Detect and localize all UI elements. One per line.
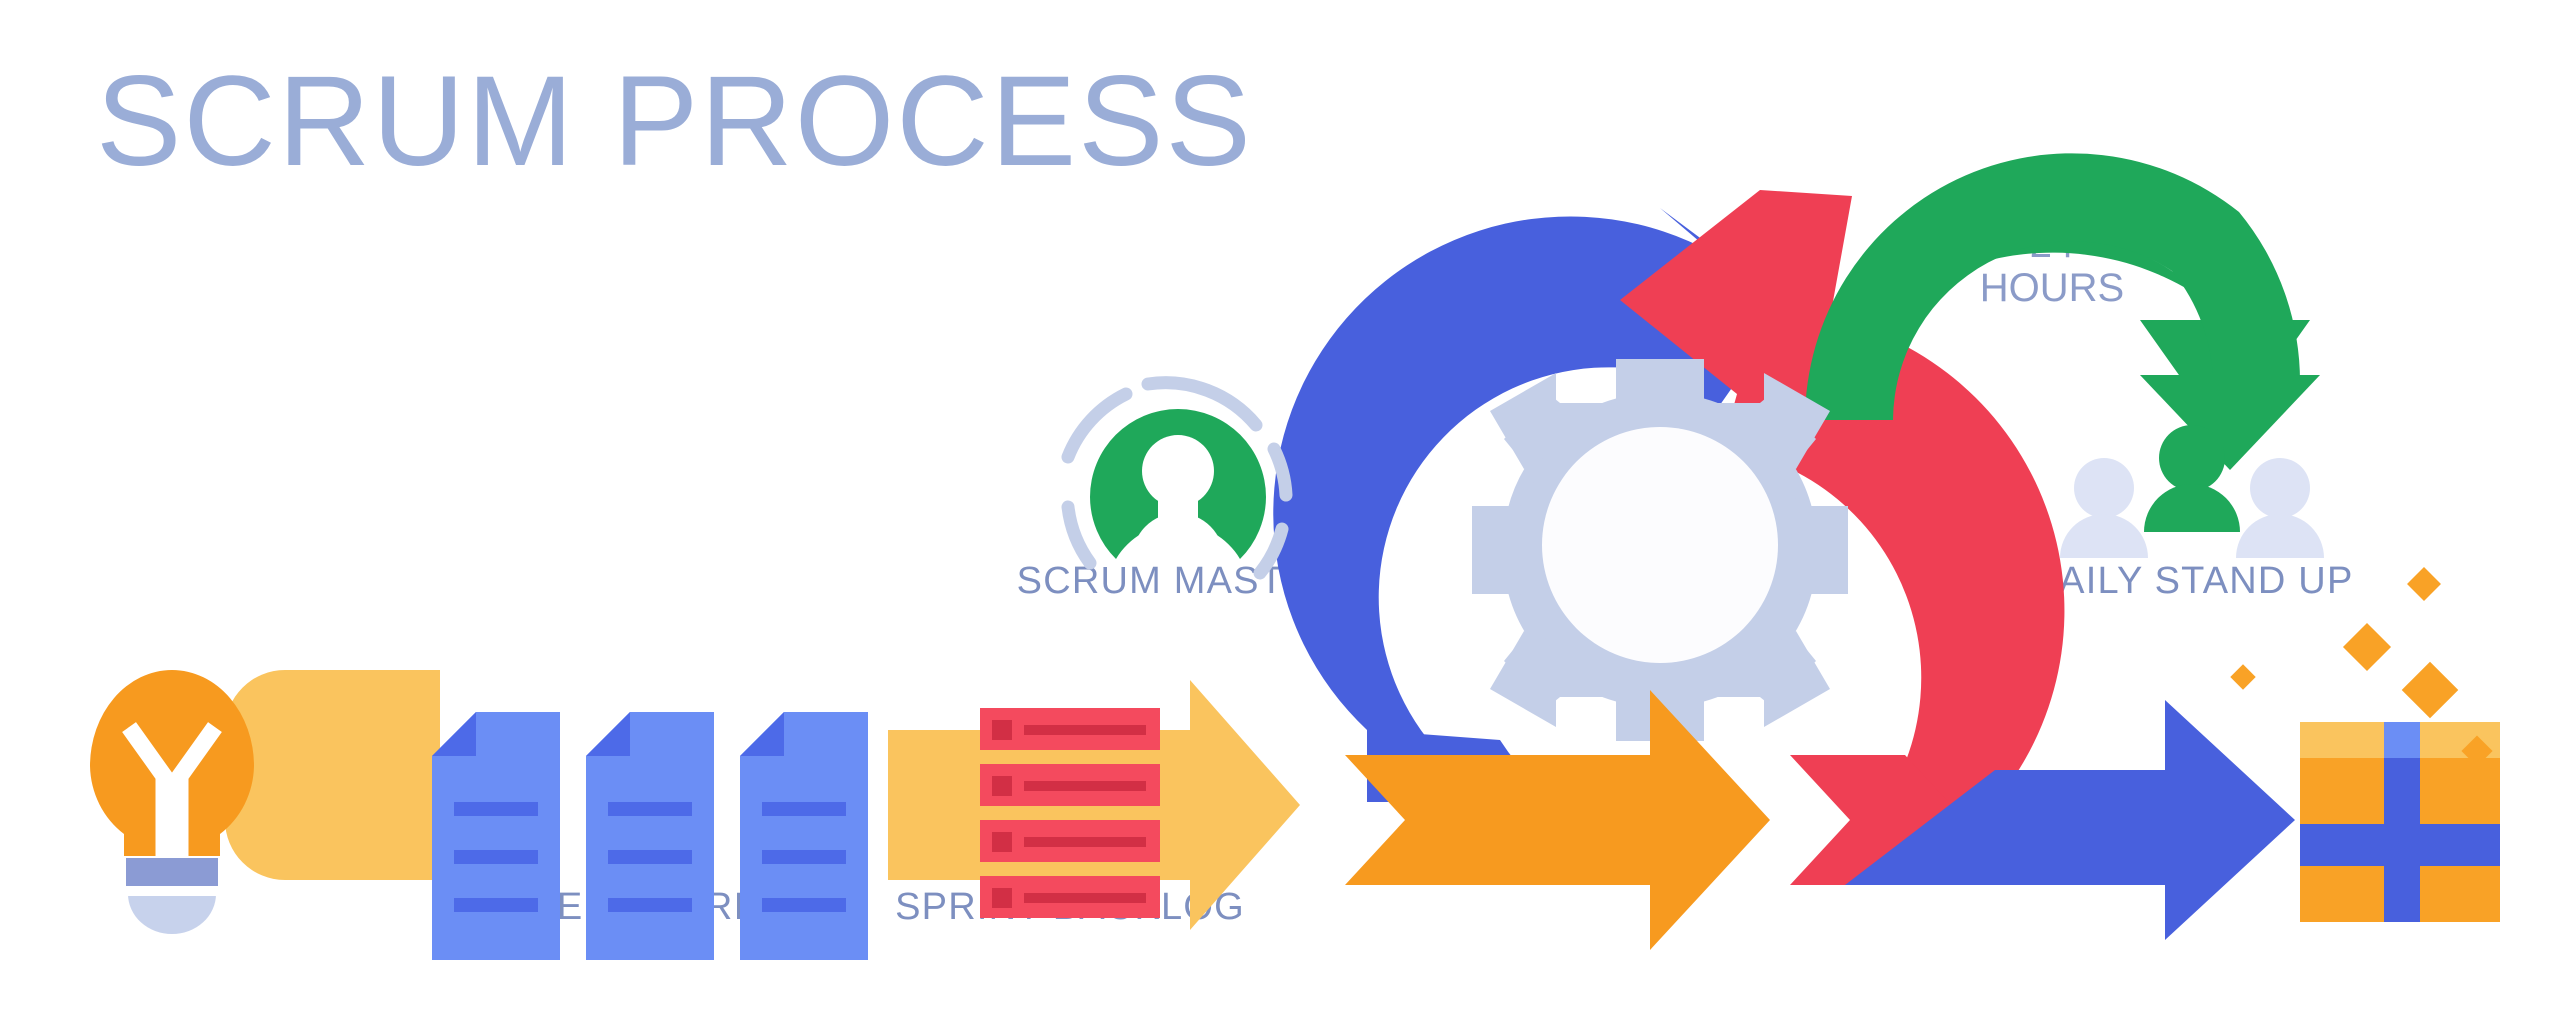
foreground-shapes-layer (0, 0, 2560, 1024)
lightbulb-icon (90, 670, 254, 934)
infographic-canvas: SCRUM PROCESS (0, 0, 2560, 1024)
sprint-arrow (1345, 690, 1770, 950)
user-stories-docs (432, 712, 868, 960)
document-icon (740, 712, 868, 960)
document-icon (586, 712, 714, 960)
document-icon (432, 712, 560, 960)
